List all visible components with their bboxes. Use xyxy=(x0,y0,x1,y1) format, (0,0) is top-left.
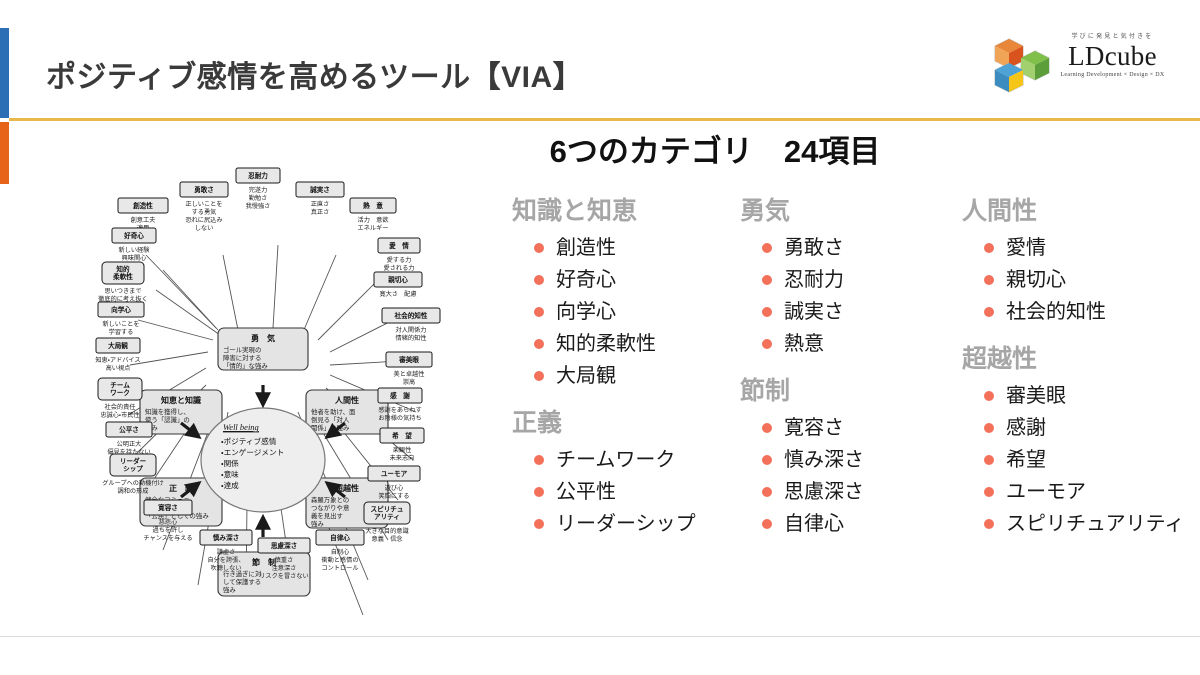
description-line: 衝動と感情の xyxy=(321,556,358,564)
logo-tagline-top: 学びに発見と気付きを xyxy=(1055,33,1170,41)
item-label: 親切心 xyxy=(1006,269,1066,291)
diagram-node: 思慮深さ xyxy=(258,538,310,553)
description-line: 活力 意欲 xyxy=(358,216,390,224)
virtue-description-line: 障害に対する xyxy=(223,353,261,362)
list-item: 審美眼 xyxy=(984,380,1187,412)
list-item: 思慮深さ xyxy=(762,476,935,508)
node-label: 向学心 xyxy=(111,305,131,314)
node-label: リーダー xyxy=(120,457,147,466)
description-line: しない xyxy=(195,225,214,232)
diagram-node: 忍耐力 xyxy=(236,168,280,183)
description-line: 完遂力 xyxy=(249,186,268,194)
node-description: 自制心衝動と感情のコントロール xyxy=(321,548,358,572)
description-line: 情緒的知性 xyxy=(396,334,427,342)
cube-logo-icon xyxy=(993,37,1051,93)
item-label: 知的柔軟性 xyxy=(556,333,656,355)
description-line: 徹底的に考え抜く xyxy=(98,295,148,303)
bullet-dot-icon xyxy=(534,371,544,381)
bullet-dot-icon xyxy=(984,487,994,497)
node-description: 完遂力勤勉さ我慢強さ xyxy=(246,186,271,210)
item-label: 向学心 xyxy=(556,301,616,323)
node-label: 親切心 xyxy=(387,275,408,284)
page-title: ポジティブ感情を高めるツール【VIA】 xyxy=(46,52,583,96)
main-heading: 6つのカテゴリ 24項目 xyxy=(500,126,930,171)
connector-line xyxy=(130,352,208,365)
wellbeing-title: Well being xyxy=(223,422,259,432)
item-label: 愛情 xyxy=(1006,237,1046,259)
category-column-left: 知識と知恵 創造性 好奇心 向学心 知的柔軟性 大局観 正義 チームワーク 公平… xyxy=(512,196,727,552)
node-description: 新しい経験興味関心 xyxy=(119,246,151,262)
list-item: チームワーク xyxy=(534,444,727,476)
list-item: スピリチュアリティ xyxy=(984,508,1187,540)
description-line: 寛大さ 配慮 xyxy=(379,290,416,298)
node-description: 活力 意欲エネルギー xyxy=(358,216,390,232)
node-label: 希 望 xyxy=(391,431,412,440)
diagram-node: 愛 情 xyxy=(378,238,420,253)
list-item: 希望 xyxy=(984,444,1187,476)
bullet-dot-icon xyxy=(984,455,994,465)
list-item: 自律心 xyxy=(762,508,935,540)
wellbeing-line: ・ポジティブ感情 xyxy=(221,436,277,446)
node-label: ワーク xyxy=(110,388,130,397)
category-block-humanity: 人間性 愛情 親切心 社会的知性 xyxy=(962,196,1187,328)
virtue-node: 人間性他者を助け、面倒見る「対人関係」の強み xyxy=(306,390,388,434)
category-block-knowledge: 知識と知恵 創造性 好奇心 向学心 知的柔軟性 大局観 xyxy=(512,196,727,392)
bullet-dot-icon xyxy=(984,275,994,285)
node-label: 知的 xyxy=(115,265,130,274)
bullet-dot-icon xyxy=(984,307,994,317)
bullet-dot-icon xyxy=(534,519,544,529)
connector-line xyxy=(303,255,336,332)
description-line: 偏見を持たない xyxy=(107,448,150,456)
category-item-list: チームワーク 公平性 リーダーシップ xyxy=(512,444,727,540)
description-line: 感謝をあらわす xyxy=(378,406,421,414)
bullet-dot-icon xyxy=(762,243,772,253)
node-label: スピリチュ xyxy=(371,505,404,514)
category-title: 勇気 xyxy=(740,196,935,226)
description-line: 慈悲心 xyxy=(159,518,178,526)
node-label: 慎み深さ xyxy=(212,533,239,542)
diagram-node: 誠実さ xyxy=(296,182,344,197)
description-line: 未来志向 xyxy=(390,454,415,462)
bullet-dot-icon xyxy=(762,339,772,349)
node-description: 楽観性未来志向 xyxy=(390,446,415,462)
list-item: 向学心 xyxy=(534,296,727,328)
node-label: 感 謝 xyxy=(390,391,410,400)
description-line: 愛する力 xyxy=(387,256,412,264)
category-item-list: 創造性 好奇心 向学心 知的柔軟性 大局観 xyxy=(512,232,727,392)
virtue-description-line: ゴール実現の xyxy=(223,345,261,354)
category-title: 超越性 xyxy=(962,344,1187,374)
node-label: チーム xyxy=(110,382,130,390)
header-accent-bar-blue xyxy=(0,28,9,118)
description-line: 自分を誇張、 xyxy=(207,556,244,564)
item-label: チームワーク xyxy=(556,449,675,471)
description-line: 社会的責任 xyxy=(105,403,136,411)
list-item: 大局観 xyxy=(534,360,727,392)
node-label: 熱 意 xyxy=(363,201,383,210)
virtue-label: 勇 気 xyxy=(251,333,275,343)
list-item: リーダーシップ xyxy=(534,508,727,540)
diagram-canvas: 勇 気ゴール実現の障害に対する「情的」な強み知恵と知識知識を獲得し、使う「認識」… xyxy=(68,160,458,630)
virtue-description-line: 強み xyxy=(311,519,324,528)
node-label: 自律心 xyxy=(330,533,350,542)
description-line: 笑顔にする xyxy=(379,492,410,500)
diagram-node: 親切心 xyxy=(374,272,422,287)
description-line: 愛される力 xyxy=(384,264,415,272)
category-item-list: 愛情 親切心 社会的知性 xyxy=(962,232,1187,328)
item-label: 勇敢さ xyxy=(784,237,844,259)
bullet-dot-icon xyxy=(534,275,544,285)
bullet-dot-icon xyxy=(762,519,772,529)
node-description: 公明正大偏見を持たない xyxy=(107,440,150,456)
diagram-node: 大局観 xyxy=(96,338,140,353)
description-line: 思いつきまで xyxy=(104,288,141,295)
node-description: 正直さ真正さ xyxy=(311,200,330,216)
item-label: 好奇心 xyxy=(556,269,616,291)
connector-line xyxy=(138,320,213,340)
item-label: 慎み深さ xyxy=(784,449,864,471)
list-item: 勇敢さ xyxy=(762,232,935,264)
category-item-list: 審美眼 感謝 希望 ユーモア スピリチュアリティ xyxy=(962,380,1187,540)
description-line: 我慢強さ xyxy=(246,202,271,210)
bullet-dot-icon xyxy=(984,423,994,433)
diagram-node: 向学心 xyxy=(98,302,144,317)
description-line: 正しいことを xyxy=(185,201,222,208)
category-block-transcendence: 超越性 審美眼 感謝 希望 ユーモア スピリチュアリティ xyxy=(962,344,1187,540)
category-title: 節制 xyxy=(740,376,935,406)
description-line: 過ちを許し xyxy=(153,526,184,534)
description-line: 興味関心 xyxy=(122,254,148,262)
slide-root: ポジティブ感情を高めるツール【VIA】 学びに発見と気付きを xyxy=(0,0,1200,675)
item-label: 誠実さ xyxy=(784,301,844,323)
virtue-description-line: 知識を獲得し、 xyxy=(145,407,190,416)
node-label: 公平さ xyxy=(119,425,139,434)
category-block-courage: 勇気 勇敢さ 忍耐力 誠実さ 熱意 xyxy=(740,196,935,360)
description-line: エネルギー xyxy=(358,225,389,232)
diagram-node: 審美眼 xyxy=(386,352,432,367)
virtue-label: 人間性 xyxy=(334,395,359,405)
wellbeing-line: ・エンゲージメント xyxy=(221,448,284,457)
diagram-node: 感 謝 xyxy=(378,388,422,403)
wellbeing-circle xyxy=(201,408,325,512)
wellbeing-line: ・達成 xyxy=(221,480,239,490)
node-label: 思慮深さ xyxy=(271,541,297,550)
diagram-node: 自律心 xyxy=(316,530,364,545)
diagram-node: 知的柔軟性 xyxy=(102,262,144,284)
list-item: 親切心 xyxy=(984,264,1187,296)
list-item: 公平性 xyxy=(534,476,727,508)
list-item: ユーモア xyxy=(984,476,1187,508)
logo-tagline-bottom: Learning Development × Design × DX xyxy=(1055,71,1170,80)
virtue-label: 知恵と知識 xyxy=(161,395,201,405)
item-label: 希望 xyxy=(1006,449,1046,471)
footer-divider xyxy=(0,636,1200,637)
description-line: 勤勉さ xyxy=(249,194,268,202)
item-label: 寛容さ xyxy=(784,417,844,439)
diagram-node: 慎み深さ xyxy=(200,530,252,545)
virtue-description-line: 義を見出す xyxy=(311,511,343,520)
description-line: 調和の形成 xyxy=(118,487,149,495)
list-item: 社会的知性 xyxy=(984,296,1187,328)
description-line: 新しい経験 xyxy=(119,246,151,254)
node-label: 社会的知性 xyxy=(394,311,428,320)
category-block-temperance: 節制 寛容さ 慎み深さ 思慮深さ 自律心 xyxy=(740,376,935,540)
bullet-dot-icon xyxy=(762,307,772,317)
description-line: 大きな目的意識 xyxy=(365,527,409,535)
description-line: 高い視点 xyxy=(106,364,131,372)
header-divider-rule xyxy=(9,118,1200,121)
node-description: 新しいことを学習する xyxy=(102,320,139,336)
virtue-node: 勇 気ゴール実現の障害に対する「情的」な強み xyxy=(218,328,308,370)
diagram-node: 好奇心 xyxy=(112,228,156,243)
diagram-node: 社会的知性 xyxy=(382,308,440,323)
connector-line xyxy=(223,255,238,330)
list-item: 誠実さ xyxy=(762,296,935,328)
item-label: リーダーシップ xyxy=(556,513,696,535)
description-line: 恐れに尻込み xyxy=(185,216,222,224)
bullet-dot-icon xyxy=(984,391,994,401)
description-line: する勇気 xyxy=(192,208,217,216)
node-label: 審美眼 xyxy=(398,355,419,364)
description-line: コントロール xyxy=(321,565,358,572)
diagram-node: 熱 意 xyxy=(350,198,396,213)
virtue-description-line: して保護する xyxy=(223,577,261,586)
node-label: 忍耐力 xyxy=(248,171,268,180)
node-description: 大きな目的意識意義 信念 xyxy=(365,527,409,543)
diagram-node: 希 望 xyxy=(380,428,424,443)
item-label: 審美眼 xyxy=(1006,385,1066,407)
diagram-node: 寛容さ xyxy=(144,500,192,515)
description-line: お陰様の気持ち xyxy=(378,414,421,422)
bullet-dot-icon xyxy=(534,487,544,497)
list-item: 感謝 xyxy=(984,412,1187,444)
via-strengths-diagram: 勇 気ゴール実現の障害に対する「情的」な強み知恵と知識知識を獲得し、使う「認識」… xyxy=(68,160,458,630)
item-label: 創造性 xyxy=(556,237,616,259)
description-line: 注意深さ xyxy=(272,564,297,572)
diagram-node: 公平さ xyxy=(106,422,152,437)
bullet-dot-icon xyxy=(534,339,544,349)
item-label: 感謝 xyxy=(1006,417,1046,439)
category-column-middle: 勇気 勇敢さ 忍耐力 誠実さ 熱意 節制 寛容さ 慎み深さ 思慮深さ 自律心 xyxy=(740,196,935,552)
description-line: 楽観性 xyxy=(393,446,412,454)
item-label: 忍耐力 xyxy=(784,269,844,291)
connector-line xyxy=(273,245,278,328)
category-block-justice: 正義 チームワーク 公平性 リーダーシップ xyxy=(512,408,727,540)
list-item: 知的柔軟性 xyxy=(534,328,727,360)
node-label: 創造性 xyxy=(133,201,153,210)
list-item: 好奇心 xyxy=(534,264,727,296)
bullet-dot-icon xyxy=(534,243,544,253)
diagram-node: 勇敢さ xyxy=(180,182,228,197)
node-description: 愛する力愛される力 xyxy=(384,256,415,272)
ldcube-logo: 学びに発見と気付きを LDcube Learning Development ×… xyxy=(993,33,1168,95)
bullet-dot-icon xyxy=(762,487,772,497)
node-description: 社会的責任忠誠心・市民性 xyxy=(100,403,139,419)
node-description: 美と卓越性崇高 xyxy=(394,370,425,386)
category-column-right: 人間性 愛情 親切心 社会的知性 超越性 審美眼 感謝 希望 ユーモア スピリチ… xyxy=(962,196,1187,552)
node-label: ユーモア xyxy=(381,470,408,478)
node-label: 誠実さ xyxy=(310,185,330,194)
bullet-dot-icon xyxy=(984,243,994,253)
description-line: 崇高 xyxy=(403,378,415,386)
list-item: 寛容さ xyxy=(762,412,935,444)
description-line: 学習する xyxy=(109,328,134,336)
node-description: 対人関係力情緒的知性 xyxy=(396,326,427,342)
diagram-node: スピリチュアリティ xyxy=(364,502,410,524)
connector-line xyxy=(146,255,216,328)
node-label: シップ xyxy=(123,464,143,473)
description-line: 忠誠心・市民性 xyxy=(100,411,139,419)
category-item-list: 勇敢さ 忍耐力 誠実さ 熱意 xyxy=(740,232,935,360)
node-description: 正しいことをする勇気恐れに尻込みしない xyxy=(185,201,222,232)
item-label: スピリチュアリティ xyxy=(1006,513,1184,535)
description-line: 真正さ xyxy=(311,208,330,216)
description-line: 吹聴しない xyxy=(211,564,242,572)
diagram-node: 創造性 xyxy=(118,198,168,213)
category-item-list: 寛容さ 慎み深さ 思慮深さ 自律心 xyxy=(740,412,935,540)
logo-wordmark: LDcube xyxy=(1055,41,1170,71)
category-title: 人間性 xyxy=(962,196,1187,226)
description-line: 慎重さ xyxy=(275,556,294,564)
diagram-node: リーダーシップ xyxy=(110,454,156,476)
description-line: 新しいことを xyxy=(102,320,139,328)
description-line: 謙虚さ xyxy=(217,548,236,556)
virtue-description-line: 他者を助け、面 xyxy=(311,407,356,416)
list-item: 愛情 xyxy=(984,232,1187,264)
description-line: 美と卓越性 xyxy=(394,370,425,378)
description-line: 自制心 xyxy=(331,548,350,556)
item-label: 思慮深さ xyxy=(784,481,864,503)
node-label: 寛容さ xyxy=(157,503,178,512)
node-description: 思いつきまで徹底的に考え抜く xyxy=(98,288,148,303)
list-item: 創造性 xyxy=(534,232,727,264)
virtue-description-line: 強み xyxy=(223,585,236,594)
description-line: 知恵・アドバイス xyxy=(95,356,140,364)
item-label: 熱意 xyxy=(784,333,824,355)
description-line: 意義 信念 xyxy=(372,535,403,543)
item-label: 大局観 xyxy=(556,365,616,387)
category-title: 知識と知恵 xyxy=(512,196,727,226)
item-label: 自律心 xyxy=(784,513,844,535)
description-line: リスクを冒さない xyxy=(259,573,309,580)
list-item: 忍耐力 xyxy=(762,264,935,296)
description-line: 正直さ xyxy=(311,200,330,208)
category-title: 正義 xyxy=(512,408,727,438)
node-label: 柔軟性 xyxy=(113,272,133,281)
wellbeing-line: ・関係 xyxy=(221,458,239,468)
bullet-dot-icon xyxy=(762,275,772,285)
description-line: 遊び心 xyxy=(385,484,404,492)
node-label: 大局観 xyxy=(108,341,128,350)
bullet-dot-icon xyxy=(534,307,544,317)
node-description: 寛大さ 配慮 xyxy=(379,290,416,298)
description-line: 対人関係力 xyxy=(396,326,427,334)
bullet-dot-icon xyxy=(534,455,544,465)
list-item: 熱意 xyxy=(762,328,935,360)
description-line: チャンスを与える xyxy=(143,534,192,542)
description-line: 公明正大 xyxy=(117,440,142,448)
item-label: 社会的知性 xyxy=(1006,301,1106,323)
diagram-node: チームワーク xyxy=(98,378,142,400)
slide-header: ポジティブ感情を高めるツール【VIA】 学びに発見と気付きを xyxy=(0,0,1200,118)
wellbeing-line: ・意味 xyxy=(221,469,239,479)
node-label: 勇敢さ xyxy=(194,185,214,194)
item-label: 公平性 xyxy=(556,481,616,503)
node-label: 愛 情 xyxy=(389,241,409,250)
item-label: ユーモア xyxy=(1006,481,1086,503)
bullet-dot-icon xyxy=(762,455,772,465)
header-accent-bar-orange xyxy=(0,122,9,184)
virtue-description-line: つながりや意 xyxy=(311,503,350,512)
description-line: グループへの動機付け xyxy=(102,479,164,487)
node-label: 好奇心 xyxy=(124,231,144,240)
diagram-node: ユーモア xyxy=(368,466,420,481)
node-label: アリティ xyxy=(374,513,400,521)
virtue-description-line: 「情的」な強み xyxy=(223,361,268,370)
bullet-dot-icon xyxy=(762,423,772,433)
bullet-dot-icon xyxy=(984,519,994,529)
description-line: 創意工夫 xyxy=(131,216,156,224)
list-item: 慎み深さ xyxy=(762,444,935,476)
